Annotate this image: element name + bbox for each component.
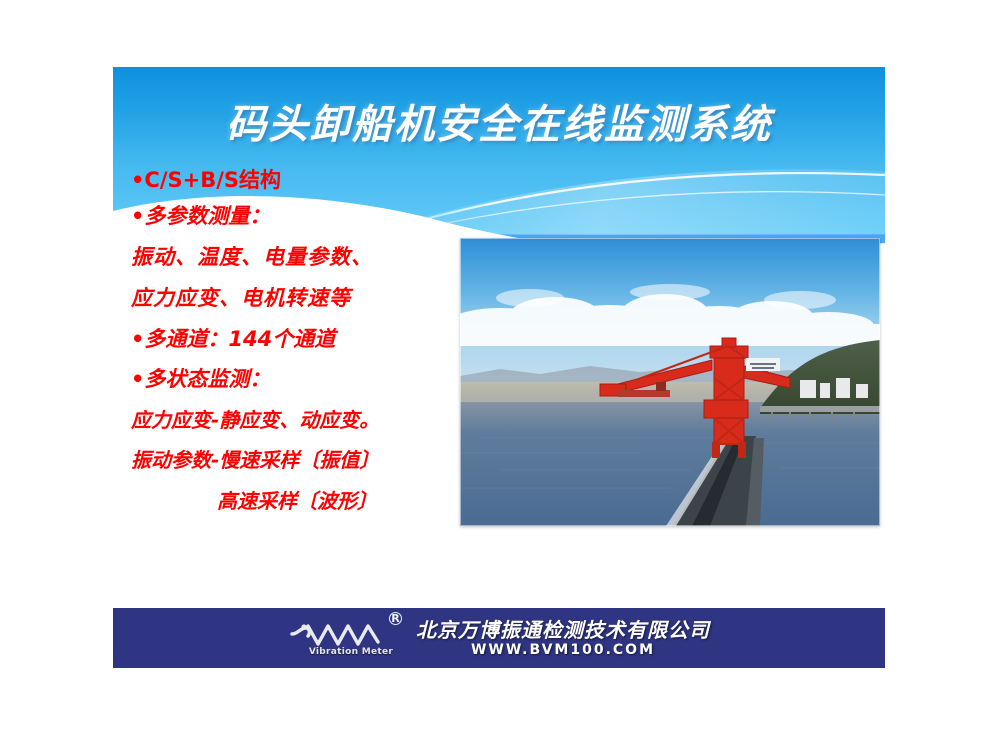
bullet-line-7: 应力应变-静应变、动应变。	[131, 400, 501, 440]
harbor-crane-photo	[460, 238, 880, 526]
bullet-line-2: •多参数测量：	[131, 195, 501, 237]
bullet-line-9: 高速采样〔波形〕	[131, 481, 501, 522]
bullet-line-4: 应力应变、电机转速等	[131, 278, 501, 319]
bullet-line-3: 振动、温度、电量参数、	[131, 237, 501, 278]
company-name: 北京万博振通检测技术有限公司	[416, 618, 710, 642]
bullet-line-5: •多通道：144个通道	[131, 319, 501, 359]
company-website[interactable]: WWW.BVM100.COM	[416, 642, 710, 659]
vibration-meter-logo: R Vibration Meter	[288, 614, 406, 662]
bullet-line-1: •C/S+B/S结构	[131, 165, 501, 195]
footer-band: R Vibration Meter 北京万博振通检测技术有限公司 WWW.BVM…	[113, 608, 885, 668]
page-title: 码头卸船机安全在线监测系统	[113, 105, 885, 145]
bullet-line-8: 振动参数-慢速采样〔振值〕	[131, 440, 501, 481]
registered-trademark-icon: R	[389, 612, 402, 625]
logo-subtitle: Vibration Meter	[296, 647, 406, 657]
bullet-line-6: •多状态监测：	[131, 359, 501, 400]
slide-canvas: 码头卸船机安全在线监测系统 •C/S+B/S结构 •多参数测量： 振动、温度、电…	[113, 67, 885, 669]
bullet-list: •C/S+B/S结构 •多参数测量： 振动、温度、电量参数、 应力应变、电机转速…	[131, 165, 501, 522]
